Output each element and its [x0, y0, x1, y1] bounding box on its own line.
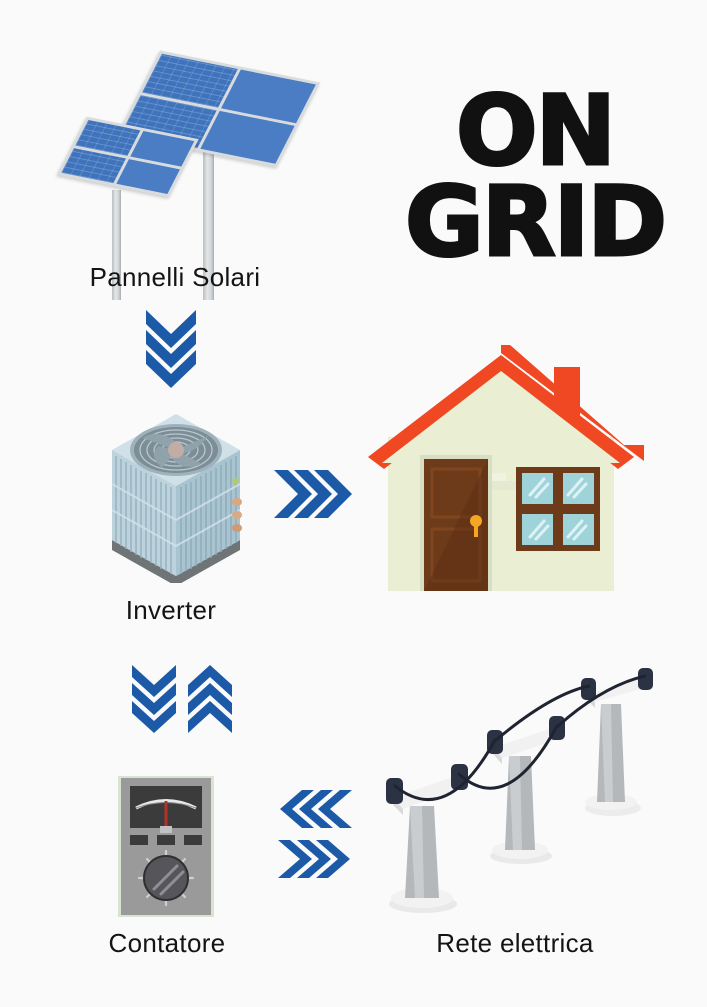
inverter-unit-icon	[96, 398, 256, 583]
flow-meter-to-grid-right	[278, 838, 352, 880]
label-inverter: Inverter	[56, 595, 286, 626]
flow-panels-to-inverter	[140, 308, 202, 392]
house-icon	[358, 345, 644, 591]
chevron-down-icon	[128, 663, 180, 735]
flow-grid-to-meter-left	[278, 788, 352, 830]
chevron-down-icon	[140, 308, 202, 392]
label-solar-panels: Pannelli Solari	[10, 262, 340, 293]
chevron-right-icon	[272, 466, 352, 522]
infographic-canvas: ON GRID Pannelli Solari	[0, 0, 707, 1007]
chevron-right-icon	[278, 838, 352, 880]
house-illustration	[358, 345, 644, 591]
title-line-1: ON	[392, 86, 678, 177]
chevron-up-icon	[184, 663, 236, 735]
chevron-left-icon	[278, 788, 352, 830]
solar-panels-illustration	[55, 40, 345, 260]
power-lines-icon	[375, 660, 655, 922]
inverter-pipe-fittings	[232, 498, 242, 532]
label-meter: Contatore	[52, 928, 282, 959]
flow-inverter-meter-down	[128, 663, 180, 735]
flow-meter-to-inverter-up	[184, 663, 236, 735]
inverter-illustration	[96, 398, 256, 583]
label-grid: Rete elettrica	[375, 928, 655, 959]
meter-illustration	[117, 775, 215, 918]
flow-inverter-to-house	[272, 466, 352, 522]
title-line-2: GRID	[392, 177, 678, 268]
power-grid-illustration	[375, 660, 655, 922]
electric-meter-icon	[117, 775, 215, 918]
page-title: ON GRID	[392, 86, 678, 268]
